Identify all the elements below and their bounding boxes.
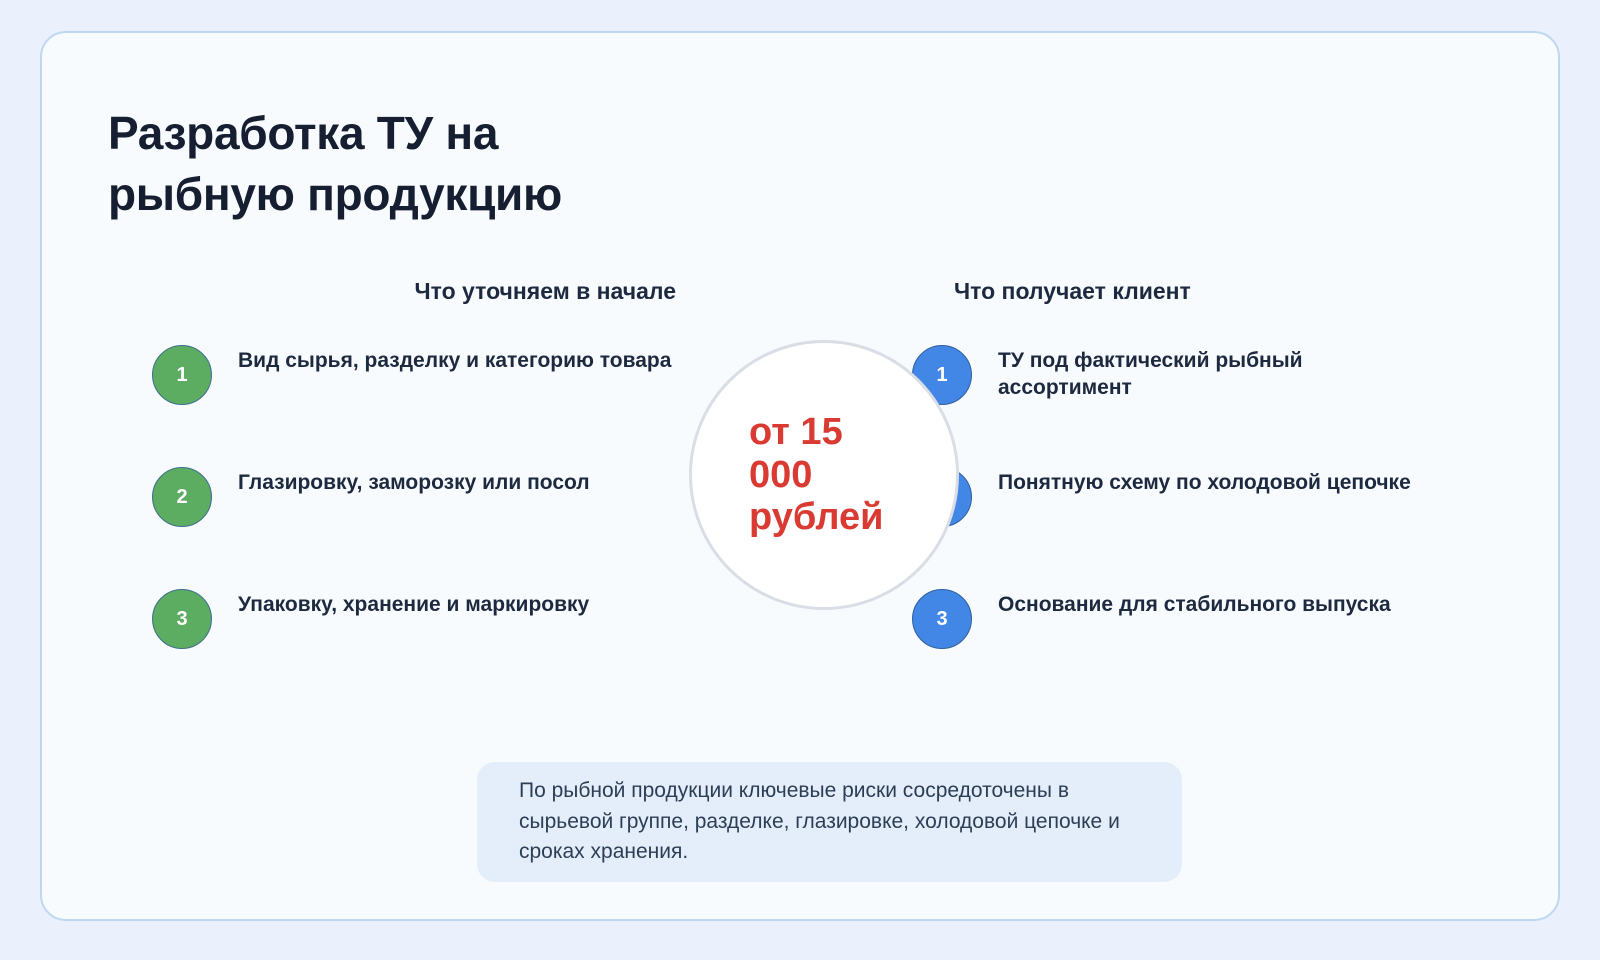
list-item-label: Глазировку, заморозку или посол [238,469,590,496]
left-column-list: 1 Вид сырья, разделку и категорию товара… [152,331,682,697]
right-column: Что получает клиент 1 ТУ под фактический… [912,278,1412,697]
note-text: По рыбной продукции ключевые риски сосре… [477,776,1182,867]
step-number-badge: 2 [152,467,212,527]
list-item: 1 ТУ под фактический рыбный ассортимент [912,331,1412,453]
step-number-badge: 3 [152,589,212,649]
list-item: 2 Глазировку, заморозку или посол [152,453,682,575]
price-label: от 15 000 рублей [749,411,899,540]
page-title: Разработка ТУ на рыбную продукцию [108,103,808,225]
step-number-badge: 1 [152,345,212,405]
list-item-label: ТУ под фактический рыбный ассортимент [998,347,1412,402]
list-item-label: Упаковку, хранение и маркировку [238,591,589,618]
list-item-label: Вид сырья, разделку и категорию товара [238,347,671,374]
list-item: 1 Вид сырья, разделку и категорию товара [152,331,682,453]
list-item: 3 Упаковку, хранение и маркировку [152,575,682,697]
list-item-label: Понятную схему по холодовой цепочке [998,469,1411,496]
left-column-heading: Что уточняем в начале [152,278,682,305]
right-column-list: 1 ТУ под фактический рыбный ассортимент … [912,331,1412,697]
left-column: Что уточняем в начале 1 Вид сырья, разде… [152,278,682,697]
list-item-label: Основание для стабильного выпуска [998,591,1391,618]
content-card: Разработка ТУ на рыбную продукцию Что ут… [40,31,1560,921]
price-badge: от 15 000 рублей [689,340,959,610]
list-item: 2 Понятную схему по холодовой цепочке [912,453,1412,575]
list-item: 3 Основание для стабильного выпуска [912,575,1412,697]
infographic-slide: Разработка ТУ на рыбную продукцию Что ут… [0,0,1600,960]
right-column-heading: Что получает клиент [912,278,1412,305]
note-box: По рыбной продукции ключевые риски сосре… [477,762,1182,882]
step-number-badge: 3 [912,589,972,649]
